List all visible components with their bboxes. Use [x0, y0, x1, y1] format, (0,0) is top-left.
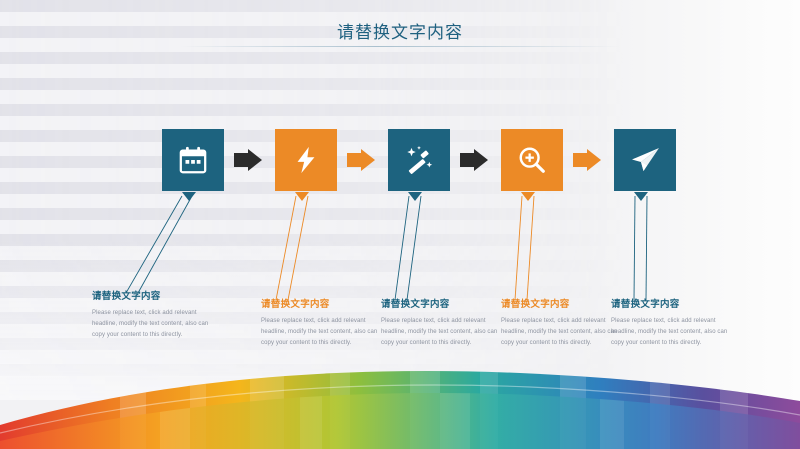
- caption-heading-2: 请替换文字内容: [261, 296, 379, 310]
- magic-wand-icon: [404, 145, 434, 175]
- caption-heading-5: 请替换文字内容: [611, 296, 729, 310]
- caption-heading-3: 请替换文字内容: [381, 296, 499, 310]
- caption-heading-4: 请替换文字内容: [501, 296, 619, 310]
- caption-heading-1: 请替换文字内容: [92, 288, 210, 302]
- rainbow-ribbon: [0, 329, 800, 449]
- page-title: 请替换文字内容: [0, 18, 800, 43]
- slide-canvas: 请替换文字内容: [0, 0, 800, 449]
- step-node-3[interactable]: [388, 129, 450, 191]
- paper-plane-icon: [629, 144, 661, 176]
- arrow-1: [234, 149, 262, 171]
- step-node-4[interactable]: [501, 129, 563, 191]
- calendar-icon: [178, 145, 208, 175]
- arrow-3: [460, 149, 488, 171]
- step-node-2[interactable]: [275, 129, 337, 191]
- process-chain: [162, 129, 682, 191]
- step-node-5[interactable]: [614, 129, 676, 191]
- arrow-4: [573, 149, 601, 171]
- arrow-2: [347, 149, 375, 171]
- lightning-bolt-icon: [291, 145, 321, 175]
- title-divider: [180, 46, 620, 47]
- step-node-1[interactable]: [162, 129, 224, 191]
- zoom-in-magnifier-icon: [517, 145, 547, 175]
